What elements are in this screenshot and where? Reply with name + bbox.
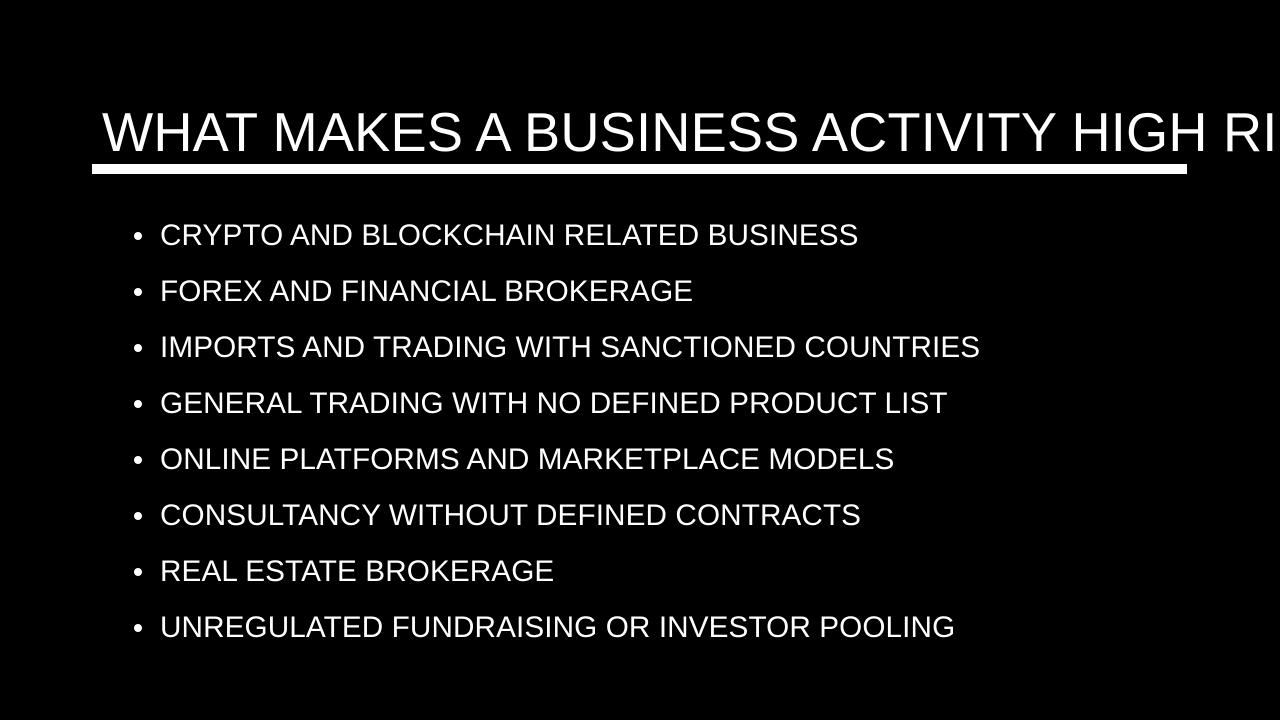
list-item-label: Unregulated Fundraising Or Investor Pool… — [160, 600, 955, 656]
list-item: Forex And Financial Brokerage — [126, 264, 1226, 320]
list-item: Online Platforms And Marketplace Models — [126, 432, 1226, 488]
bullet-dot-icon — [134, 400, 142, 408]
list-item-label: Crypto And Blockchain Related Business — [160, 208, 859, 264]
bullet-dot-icon — [134, 232, 142, 240]
slide-title: What Makes A Business Activity High Risk — [102, 99, 1166, 165]
list-item-label: Real Estate Brokerage — [160, 544, 554, 600]
list-item: Imports And Trading With Sanctioned Coun… — [126, 320, 1226, 376]
bullet-dot-icon — [134, 568, 142, 576]
list-item: Real Estate Brokerage — [126, 544, 1226, 600]
bullet-dot-icon — [134, 456, 142, 464]
bullet-dot-icon — [134, 624, 142, 632]
list-item: Unregulated Fundraising Or Investor Pool… — [126, 600, 1226, 656]
bullet-dot-icon — [134, 288, 142, 296]
list-item-label: Forex And Financial Brokerage — [160, 264, 693, 320]
list-item-label: Consultancy Without Defined Contracts — [160, 488, 861, 544]
bullet-dot-icon — [134, 344, 142, 352]
list-item: Crypto And Blockchain Related Business — [126, 208, 1226, 264]
list-item-label: Imports And Trading With Sanctioned Coun… — [160, 320, 980, 376]
list-item-label: General Trading With No Defined Product … — [160, 376, 948, 432]
list-item-label: Online Platforms And Marketplace Models — [160, 432, 894, 488]
list-item: General Trading With No Defined Product … — [126, 376, 1226, 432]
presentation-slide: What Makes A Business Activity High Risk… — [0, 0, 1280, 720]
bullet-dot-icon — [134, 512, 142, 520]
title-divider-rule — [92, 164, 1187, 174]
list-item: Consultancy Without Defined Contracts — [126, 488, 1226, 544]
bullet-list: Crypto And Blockchain Related Business F… — [126, 208, 1226, 656]
